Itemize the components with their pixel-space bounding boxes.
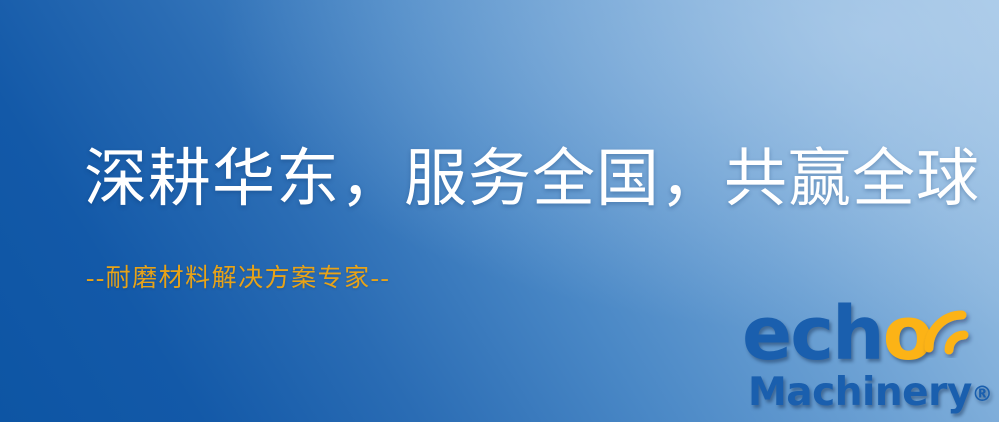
banner-headline: 深耕华东，服务全国，共赢全球 xyxy=(84,148,980,211)
echo-machinery-logo[interactable]: echo Machinery® xyxy=(742,296,999,422)
logo-word-ech: ech xyxy=(742,291,883,377)
logo-wordmark: echo xyxy=(742,296,932,372)
logo-tagline-text: Machinery xyxy=(748,370,972,415)
signal-arcs-icon xyxy=(921,292,999,358)
logo-tagline: Machinery® xyxy=(748,370,993,415)
hero-banner: 深耕华东，服务全国，共赢全球 --耐磨材料解决方案专家-- echo Machi… xyxy=(0,0,999,422)
registered-trademark-icon: ® xyxy=(972,382,993,406)
banner-subheadline: --耐磨材料解决方案专家-- xyxy=(86,266,390,291)
